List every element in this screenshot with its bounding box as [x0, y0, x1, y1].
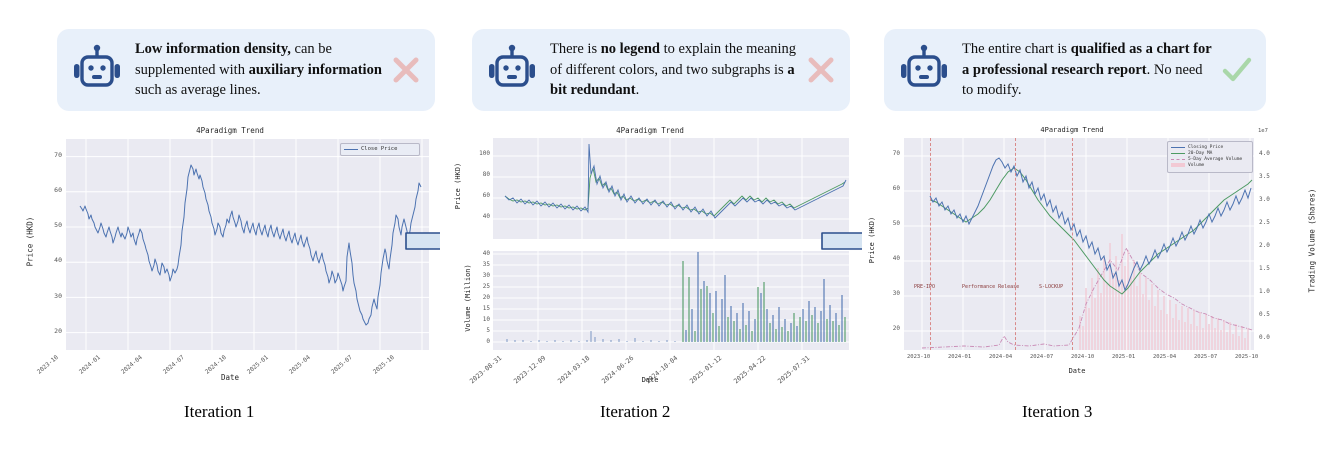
chart-title: 4Paradigm Trend: [440, 126, 860, 135]
y-tick: 70: [36, 151, 62, 159]
right-axis-exponent: 1e7: [1258, 128, 1268, 134]
robot-icon: [896, 42, 952, 98]
y-tick: 30: [36, 292, 62, 300]
y-tick: 50: [876, 220, 900, 227]
legend-label: 5-Day Average Volume: [1188, 157, 1242, 162]
annotation-label: S-LOCKUP: [1039, 284, 1063, 290]
legend-item: Volume: [1171, 163, 1249, 168]
x-tick: 2025-07: [1194, 354, 1217, 360]
iteration-1-chart: 4Paradigm Trend: [20, 124, 440, 386]
feedback-bubble-iteration-3: The entire chart is qualified as a chart…: [884, 29, 1266, 111]
y-tick: 30: [876, 290, 900, 297]
price-blue-line: [505, 144, 846, 218]
legend-swatch: [344, 149, 358, 150]
annotation-label: PRE-IPO: [914, 284, 935, 290]
y-tick-right: 3.0: [1259, 196, 1270, 203]
chart-title: 4Paradigm Trend: [862, 126, 1282, 134]
x-axis-title: Date: [20, 373, 440, 382]
y-tick-right: 0.5: [1259, 311, 1270, 318]
event-line-performance-release: [1015, 138, 1016, 350]
chart-legend: Close Price: [340, 143, 420, 156]
panel-caption-3: Iteration 3: [1022, 402, 1092, 422]
feedback-text: Low information density, can be suppleme…: [135, 39, 383, 101]
annotation-label: Performance Release: [962, 284, 1019, 290]
x-axis-title: Date: [862, 367, 1292, 375]
panel-caption-2: Iteration 2: [600, 402, 670, 422]
price-subplot-svg: [493, 138, 849, 239]
chart-legend: Closing Price 20-Day MA 5-Day Average Vo…: [1167, 141, 1253, 173]
legend-swatch: [1171, 163, 1185, 167]
y-tick: 60: [36, 186, 62, 194]
closing-price-line: [930, 158, 1251, 290]
chart-title: 4Paradigm Trend: [20, 126, 440, 135]
volume-subplot-y-title: Volume (Million): [464, 248, 472, 348]
x-tick: 2025-10: [1235, 354, 1258, 360]
y-tick: 100: [466, 150, 490, 157]
volume-subplot-svg: [493, 251, 849, 350]
y-axis-title: Price (HKD): [26, 202, 35, 282]
iteration-2-chart: 4Paradigm Trend: [440, 124, 860, 386]
iteration-3-chart: 4Paradigm Trend: [862, 124, 1317, 386]
feedback-bubble-iteration-2: There is no legend to explain the meanin…: [472, 29, 850, 111]
legend-label: 20-Day MA: [1188, 151, 1212, 156]
ma20-line: [930, 168, 1252, 294]
y-axis-title: Price (HKD): [868, 200, 876, 280]
y-tick-right: 0.0: [1259, 334, 1270, 341]
legend-item: 20-Day MA: [1171, 151, 1249, 156]
y-tick: 20: [36, 327, 62, 335]
robot-icon: [484, 42, 540, 98]
cross-icon: [804, 53, 838, 87]
feedback-text: There is no legend to explain the meanin…: [550, 39, 798, 101]
y-tick-right: 1.5: [1259, 265, 1270, 272]
x-axis-title: Date: [440, 376, 860, 384]
event-line-lockup: [1072, 138, 1073, 350]
y-tick: 60: [876, 185, 900, 192]
check-icon: [1220, 53, 1254, 87]
legend-label: Close Price: [361, 146, 397, 152]
robot-icon: [69, 42, 125, 98]
y-tick: 60: [466, 192, 490, 199]
y-tick: 40: [36, 256, 62, 264]
y-tick-right: 2.0: [1259, 242, 1270, 249]
price-subplot-y-title: Price (HKD): [454, 146, 462, 226]
y-tick: 70: [876, 150, 900, 157]
x-tick: 2024-10: [1071, 354, 1094, 360]
y-axis-title-right: Trading Volume (Shares): [1308, 176, 1317, 306]
close-price-line: [80, 165, 421, 325]
y-tick-right: 4.0: [1259, 150, 1270, 157]
y-tick: 80: [466, 171, 490, 178]
event-line-pre-ipo: [930, 138, 931, 350]
x-tick: 2023-10: [907, 354, 930, 360]
legend-label: Volume: [1188, 163, 1204, 168]
legend-item: Close Price: [344, 146, 416, 152]
feedback-bubble-iteration-1: Low information density, can be suppleme…: [57, 29, 435, 111]
legend-swatch: [1171, 147, 1185, 148]
y-tick: 20: [876, 325, 900, 332]
plot-svg: [66, 139, 429, 350]
plot-area: [66, 139, 429, 350]
y-tick: 50: [36, 221, 62, 229]
y-tick: 40: [876, 255, 900, 262]
x-tick: 2025-01: [1112, 354, 1135, 360]
x-tick: 2024-04: [989, 354, 1012, 360]
legend-swatch: [1171, 159, 1185, 160]
legend-label: Closing Price: [1188, 145, 1223, 150]
feedback-text: The entire chart is qualified as a chart…: [962, 39, 1214, 101]
y-tick-right: 3.5: [1259, 173, 1270, 180]
volume-bars-active: [683, 252, 845, 342]
y-tick: 40: [466, 213, 490, 220]
x-tick: 2024-07: [1030, 354, 1053, 360]
panel-caption-1: Iteration 1: [184, 402, 254, 422]
volume-subplot-area: [493, 251, 849, 350]
legend-item: Closing Price: [1171, 145, 1249, 150]
volume-bars-low: [507, 331, 675, 342]
cross-icon: [389, 53, 423, 87]
legend-item: 5-Day Average Volume: [1171, 157, 1249, 162]
iteration-comparison-figure: Low information density, can be suppleme…: [0, 0, 1317, 453]
x-tick: 2025-04: [1153, 354, 1176, 360]
y-tick-right: 1.0: [1259, 288, 1270, 295]
x-tick: 2024-01: [948, 354, 971, 360]
legend-swatch: [1171, 153, 1185, 154]
price-subplot-area: [493, 138, 849, 239]
y-tick-right: 2.5: [1259, 219, 1270, 226]
